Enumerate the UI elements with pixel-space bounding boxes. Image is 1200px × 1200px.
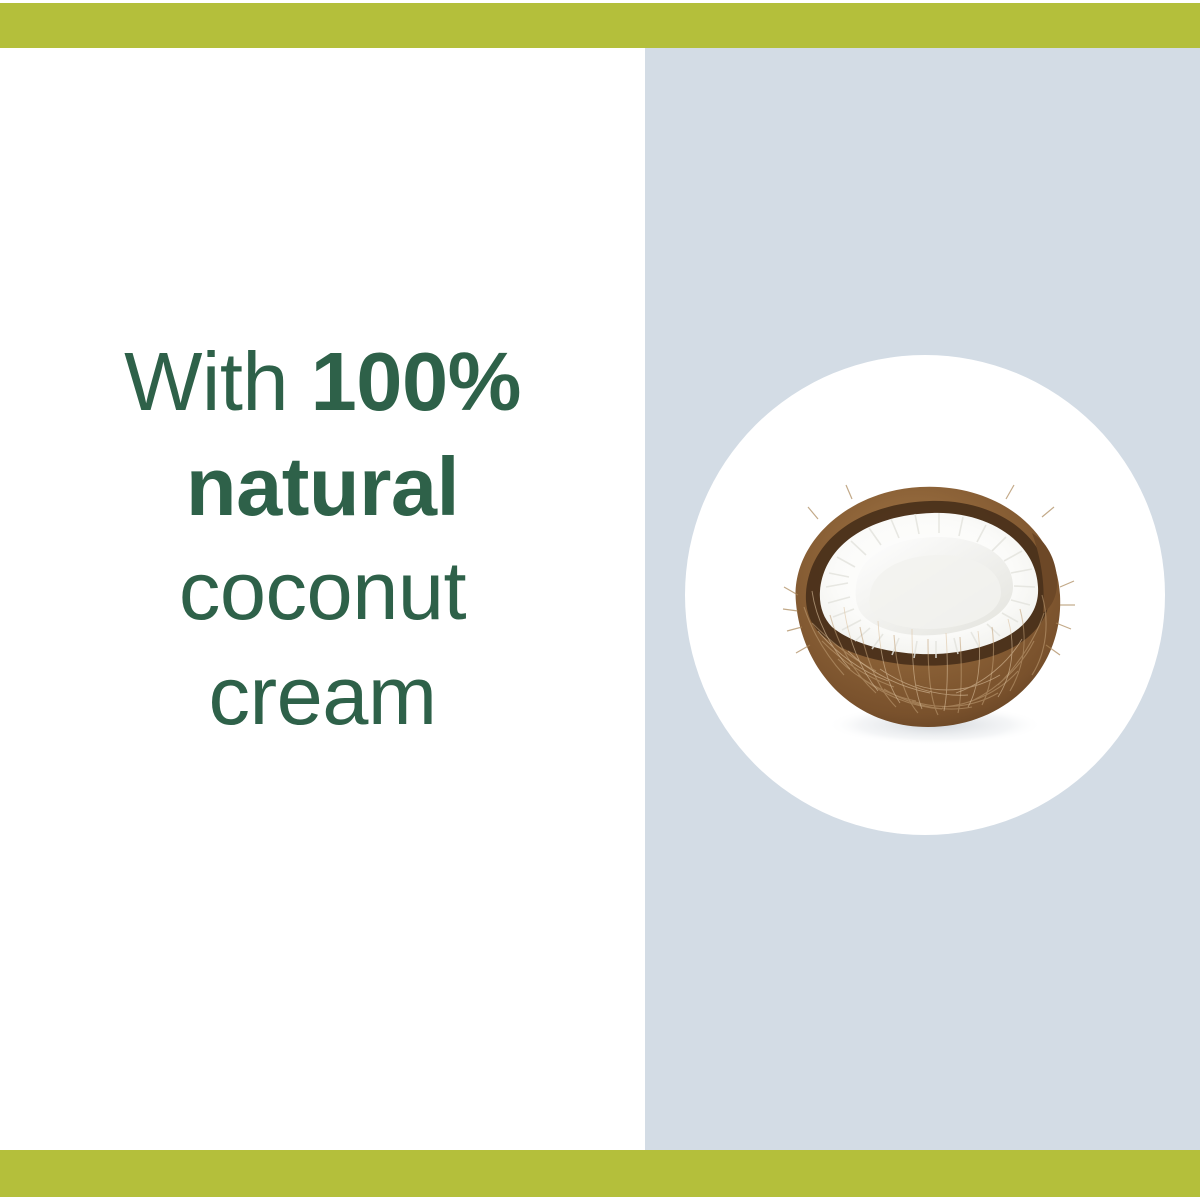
headline-line-3: coconut [60, 539, 585, 644]
product-image-circle [685, 355, 1165, 835]
coconut-half-icon [760, 455, 1090, 755]
top-accent-bar [0, 3, 1200, 48]
headline-block: With 100% natural coconut cream [60, 330, 585, 748]
promotional-banner: With 100% natural coconut cream [0, 0, 1200, 1200]
headline-line-1: With 100% [60, 330, 585, 435]
headline-prefix: With [124, 335, 311, 428]
headline-line-2: natural [60, 435, 585, 540]
headline-line-4: cream [60, 644, 585, 749]
headline-emphasis-100-percent: 100% [311, 335, 521, 428]
bottom-accent-bar [0, 1150, 1200, 1197]
